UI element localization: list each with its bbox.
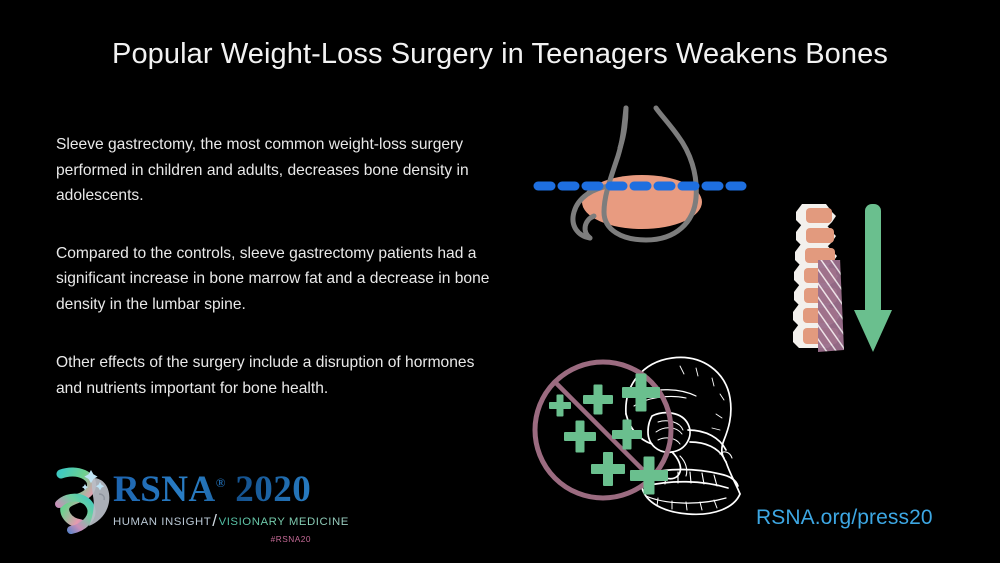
rsna-logo-type: RSNA® 2020 HUMAN INSIGHT/VISIONARY MEDIC… — [113, 464, 318, 544]
page-title: Popular Weight-Loss Surgery in Teenagers… — [0, 38, 1000, 71]
tagline-first: HUMAN INSIGHT — [113, 516, 211, 528]
rsna-logo-mark-icon — [55, 460, 117, 536]
skull-svg — [530, 352, 762, 517]
plus-icon — [564, 421, 596, 453]
vertebra — [796, 204, 836, 226]
body-paragraph-1: Sleeve gastrectomy, the most common weig… — [56, 132, 496, 209]
body-paragraph-2: Compared to the controls, sleeve gastrec… — [56, 241, 496, 318]
vertebra — [796, 224, 836, 246]
stomach-figure — [530, 100, 755, 245]
plus-icon — [622, 374, 660, 412]
skull-figure — [530, 352, 762, 517]
marrow-fat-hatch-overlay — [818, 258, 844, 352]
tagline-slash: / — [211, 511, 218, 530]
rsna-wordmark-text: RSNA — [113, 469, 216, 510]
presentation-slide: Popular Weight-Loss Surgery in Teenagers… — [0, 0, 1000, 563]
spine-svg — [788, 200, 906, 365]
press-url-link[interactable]: RSNA.org/press20 — [756, 506, 933, 530]
spine-figure — [788, 200, 906, 365]
rsna-logo: RSNA® 2020 HUMAN INSIGHT/VISIONARY MEDIC… — [55, 458, 317, 543]
pylorus-shape — [585, 216, 594, 238]
rsna-year: 2020 — [235, 469, 311, 510]
rsna-tagline: HUMAN INSIGHT/VISIONARY MEDICINE — [113, 511, 318, 531]
rsna-wordmark: RSNA® 2020 — [113, 464, 318, 509]
rsna-hashtag: #RSNA20 — [113, 534, 311, 544]
plus-icon — [583, 385, 613, 415]
body-text-column: Sleeve gastrectomy, the most common weig… — [56, 132, 496, 401]
tagline-second: VISIONARY MEDICINE — [219, 516, 349, 528]
plus-icon — [591, 452, 625, 486]
decrease-arrow-icon — [854, 204, 892, 352]
stomach-svg — [530, 100, 755, 245]
registered-mark: ® — [216, 475, 226, 490]
body-paragraph-3: Other effects of the surgery include a d… — [56, 350, 496, 401]
